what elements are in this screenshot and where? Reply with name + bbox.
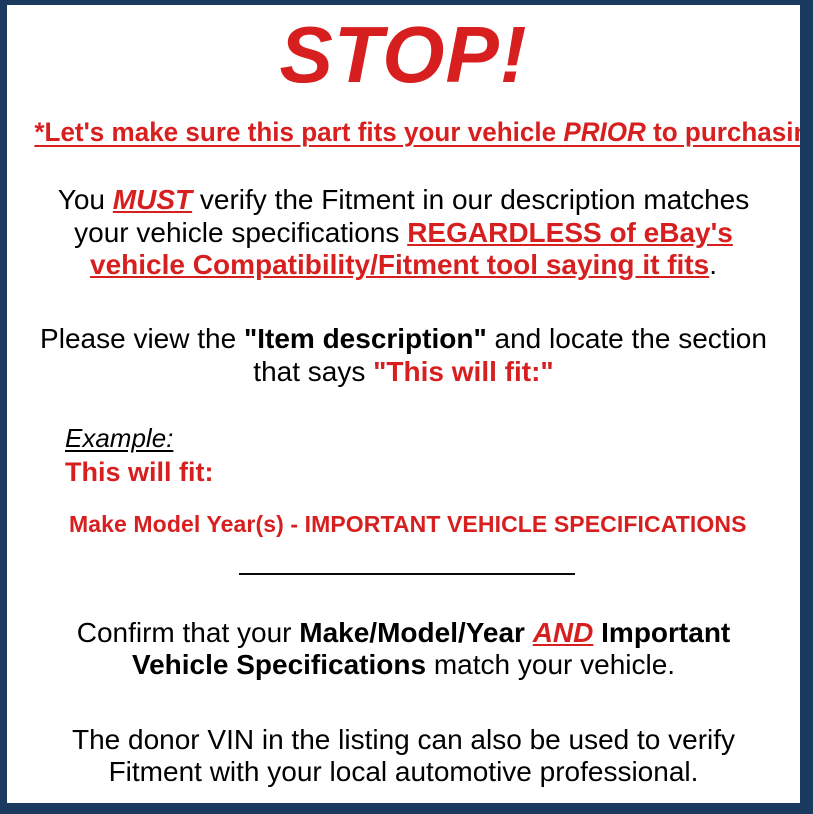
- confirm-seg-1: Confirm that your: [77, 617, 300, 648]
- must-verify-paragraph: You MUST verify the Fitment in our descr…: [21, 148, 786, 281]
- notice-content: STOP! *Let's make sure this part fits yo…: [7, 5, 800, 803]
- donor-vin-paragraph: The donor VIN in the listing can also be…: [21, 682, 786, 789]
- tagline-prefix: *Let's make sure this part fits your veh…: [34, 117, 563, 147]
- confirm-paragraph: Confirm that your Make/Model/Year AND Im…: [21, 583, 786, 682]
- please-seg-1: Please view the: [40, 323, 244, 354]
- thank-you-line: Thank you for confirming Fitment!: [21, 789, 786, 814]
- divider-wrap: [21, 537, 786, 583]
- tagline: *Let's make sure this part fits your veh…: [34, 97, 772, 148]
- example-spec-line: Make Model Year(s) - IMPORTANT VEHICLE S…: [65, 488, 786, 537]
- page-title: STOP!: [21, 5, 786, 97]
- item-description-paragraph: Please view the "Item description" and l…: [21, 281, 786, 388]
- bold-item-description: "Item description": [244, 323, 487, 354]
- must-seg-3: .: [709, 249, 717, 280]
- tagline-suffix: to purchasing*: [646, 117, 813, 147]
- red-this-will-fit-quote: "This will fit:": [373, 356, 554, 387]
- horizontal-divider: [239, 573, 575, 575]
- emphasis-must: MUST: [113, 184, 192, 215]
- example-block: Example: This will fit: Make Model Year(…: [21, 388, 786, 537]
- fitment-notice-card: STOP! *Let's make sure this part fits yo…: [0, 0, 813, 814]
- tagline-emphasis-prior: PRIOR: [563, 117, 646, 147]
- bold-make-model-year: Make/Model/Year: [299, 617, 525, 648]
- example-fit-heading: This will fit:: [65, 453, 786, 488]
- example-label: Example:: [65, 424, 173, 453]
- emphasis-and: AND: [533, 617, 594, 648]
- must-seg-1: You: [58, 184, 113, 215]
- confirm-seg-2: match your vehicle.: [426, 649, 675, 680]
